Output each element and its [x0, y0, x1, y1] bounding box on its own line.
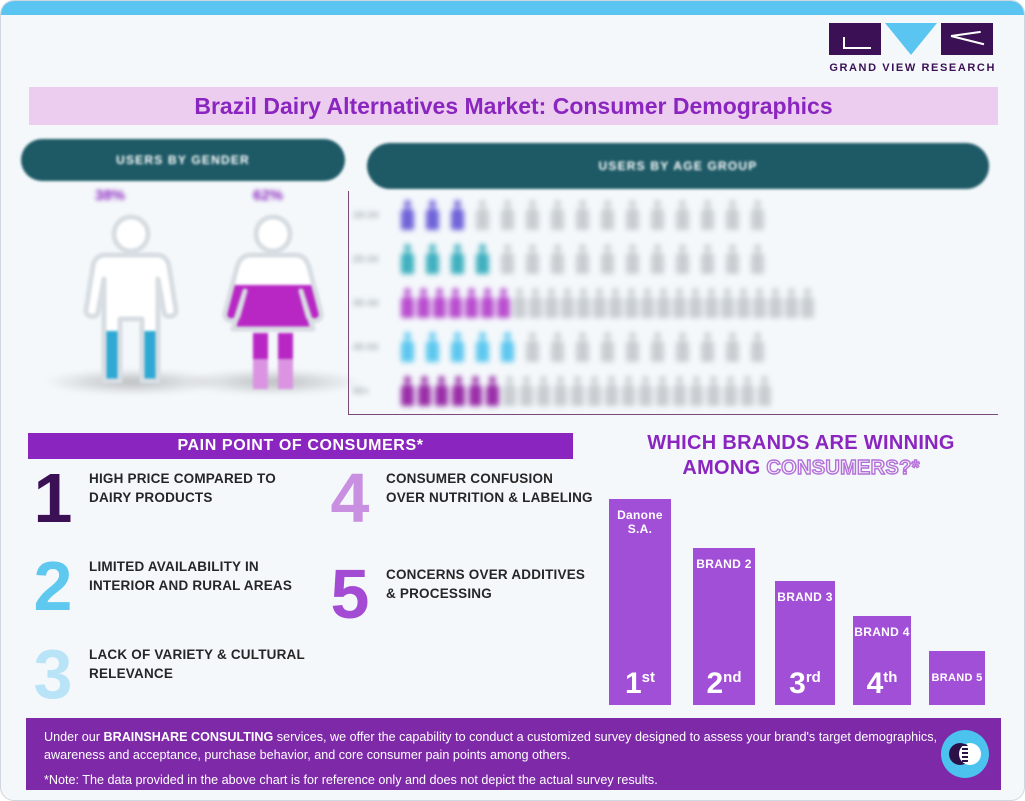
- person-icon: [676, 200, 689, 230]
- person-icon: [401, 332, 414, 362]
- person-icon: [571, 376, 584, 406]
- panel-horizontal-divider: [348, 414, 998, 415]
- gender-panel: 38% 62%: [23, 187, 345, 415]
- person-icon: [465, 288, 478, 318]
- person-icon: [435, 376, 448, 406]
- person-icon: [588, 376, 601, 406]
- age-row-icons: [401, 288, 814, 318]
- person-icon: [651, 200, 664, 230]
- person-icon: [551, 332, 564, 362]
- infographic-page: GRAND VIEW RESEARCH Brazil Dairy Alterna…: [0, 0, 1025, 801]
- person-icon: [476, 200, 489, 230]
- footer-note: *Note: The data provided in the above ch…: [44, 772, 983, 790]
- person-icon: [721, 288, 734, 318]
- chart-bar-rank: 3rd: [789, 669, 821, 705]
- person-icon: [469, 376, 482, 406]
- section-pill-users-by-age-group: USERS BY AGE GROUP: [367, 143, 989, 189]
- person-icon: [601, 332, 614, 362]
- person-icon: [639, 376, 652, 406]
- age-row: 55+: [353, 369, 993, 413]
- person-icon: [501, 200, 514, 230]
- age-row-label: 45-54: [353, 342, 401, 352]
- footer-brainshare: BRAINSHARE CONSULTING: [104, 730, 274, 744]
- person-icon: [486, 376, 499, 406]
- chart-bar: BRAND 33rd: [775, 581, 835, 705]
- pain-points-heading: PAIN POINT OF CONSUMERS*: [28, 433, 573, 459]
- age-row-icons: [401, 332, 764, 362]
- pain-point-label: CONCERNS OVER ADDITIVES & PROCESSING: [386, 563, 593, 625]
- pain-point-item: 1HIGH PRICE COMPARED TO DAIRY PRODUCTS: [31, 467, 321, 529]
- person-icon: [701, 200, 714, 230]
- person-icon: [513, 288, 526, 318]
- male-percentage: 38%: [95, 187, 125, 204]
- female-percentage: 62%: [253, 187, 283, 204]
- person-icon: [426, 200, 439, 230]
- logo-v-mark-icon: [885, 23, 937, 55]
- person-icon: [401, 288, 414, 318]
- person-icon: [753, 288, 766, 318]
- person-icon: [526, 332, 539, 362]
- chart-bar: BRAND 44th: [853, 616, 911, 705]
- pain-point-item: 4CONSUMER CONFUSION OVER NUTRITION & LAB…: [328, 467, 593, 529]
- person-icon: [576, 200, 589, 230]
- page-title: Brazil Dairy Alternatives Market: Consum…: [194, 93, 832, 120]
- person-icon: [689, 288, 702, 318]
- person-icon: [626, 244, 639, 274]
- pain-point-label: LIMITED AVAILABILITY IN INTERIOR AND RUR…: [89, 555, 321, 617]
- logo-wordmark: GRAND VIEW RESEARCH: [829, 62, 996, 74]
- chart-bar-label: Danone S.A.: [609, 499, 671, 537]
- footer-callout: Under our BRAINSHARE CONSULTING services…: [26, 718, 1001, 790]
- chart-bar: BRAND 22nd: [693, 548, 755, 705]
- person-icon: [622, 376, 635, 406]
- age-row-icons: [401, 200, 764, 230]
- title-band: Brazil Dairy Alternatives Market: Consum…: [29, 87, 998, 125]
- person-icon: [476, 244, 489, 274]
- footer-main-text: Under our BRAINSHARE CONSULTING services…: [44, 729, 983, 765]
- person-icon: [451, 200, 464, 230]
- age-row: 25-34: [353, 237, 993, 281]
- person-icon: [641, 288, 654, 318]
- person-icon: [418, 376, 431, 406]
- person-icon: [554, 376, 567, 406]
- person-icon: [551, 200, 564, 230]
- footer-pre: Under our: [44, 730, 104, 744]
- person-icon: [785, 288, 798, 318]
- person-icon: [758, 376, 771, 406]
- female-figure-icon: [213, 209, 333, 389]
- person-icon: [690, 376, 703, 406]
- person-icon: [497, 288, 510, 318]
- person-icon: [503, 376, 516, 406]
- brands-heading-among: AMONG: [682, 457, 766, 479]
- logo-g-mark-icon: [829, 23, 881, 55]
- person-icon: [476, 332, 489, 362]
- panel-vertical-divider: [348, 191, 349, 415]
- person-icon: [676, 244, 689, 274]
- age-row-label: 55+: [353, 386, 401, 396]
- person-icon: [726, 244, 739, 274]
- person-icon: [741, 376, 754, 406]
- age-row-label: 18-24: [353, 210, 401, 220]
- person-icon: [605, 376, 618, 406]
- pain-point-number-icon: 2: [31, 555, 75, 617]
- pain-point-item: 5CONCERNS OVER ADDITIVES & PROCESSING: [328, 563, 593, 625]
- person-icon: [626, 332, 639, 362]
- person-icon: [676, 332, 689, 362]
- person-icon: [576, 332, 589, 362]
- person-icon: [701, 332, 714, 362]
- person-icon: [577, 288, 590, 318]
- person-icon: [593, 288, 606, 318]
- person-icon: [751, 200, 764, 230]
- top-accent-bar: [1, 1, 1024, 15]
- person-icon: [576, 244, 589, 274]
- brands-heading-consumers: CONSUMERS?*: [766, 457, 919, 479]
- person-icon: [449, 288, 462, 318]
- person-icon: [751, 244, 764, 274]
- male-figure-icon: [71, 209, 191, 389]
- person-icon: [651, 244, 664, 274]
- pain-point-label: LACK OF VARIETY & CULTURAL RELEVANCE: [89, 643, 321, 705]
- pain-point-number-icon: 1: [31, 467, 75, 529]
- person-icon: [724, 376, 737, 406]
- chart-bar-rank: 1st: [625, 669, 655, 705]
- chart-bar-rank: 2nd: [706, 669, 741, 705]
- brands-bar-chart: Danone S.A.1stBRAND 22ndBRAND 33rdBRAND …: [609, 499, 994, 705]
- person-icon: [707, 376, 720, 406]
- pain-point-label: CONSUMER CONFUSION OVER NUTRITION & LABE…: [386, 467, 593, 529]
- pain-point-label: HIGH PRICE COMPARED TO DAIRY PRODUCTS: [89, 467, 321, 529]
- person-icon: [705, 288, 718, 318]
- person-icon: [626, 200, 639, 230]
- person-icon: [433, 288, 446, 318]
- person-icon: [657, 288, 670, 318]
- person-icon: [451, 332, 464, 362]
- person-icon: [537, 376, 550, 406]
- person-icon: [401, 376, 414, 406]
- pain-point-item: 2LIMITED AVAILABILITY IN INTERIOR AND RU…: [31, 555, 321, 617]
- person-icon: [673, 376, 686, 406]
- pain-points-column-right: 4CONSUMER CONFUSION OVER NUTRITION & LAB…: [328, 467, 593, 651]
- person-icon: [625, 288, 638, 318]
- badge-spine: [962, 744, 968, 764]
- person-icon: [751, 332, 764, 362]
- brands-heading-line-2: AMONG CONSUMERS?*: [601, 456, 1001, 481]
- chart-bar-label: BRAND 2: [696, 548, 751, 572]
- person-icon: [701, 244, 714, 274]
- section-pill-users-by-gender: USERS BY GENDER: [21, 139, 345, 181]
- age-row-label: 25-34: [353, 254, 401, 264]
- person-icon: [726, 200, 739, 230]
- age-row: 35-44: [353, 281, 993, 325]
- chart-bar-label: BRAND 4: [854, 616, 909, 640]
- person-icon: [501, 244, 514, 274]
- grand-view-research-logo: GRAND VIEW RESEARCH: [829, 23, 996, 74]
- chart-bar-label: BRAND 5: [932, 672, 983, 685]
- pain-point-number-icon: 5: [328, 563, 372, 625]
- person-icon: [520, 376, 533, 406]
- pain-point-number-icon: 3: [31, 643, 75, 705]
- chart-bar-rank: 4th: [867, 669, 898, 705]
- person-icon: [651, 332, 664, 362]
- logo-r-mark-icon: [941, 23, 993, 55]
- person-icon: [426, 244, 439, 274]
- age-row: 18-24: [353, 193, 993, 237]
- pain-point-item: 3LACK OF VARIETY & CULTURAL RELEVANCE: [31, 643, 321, 705]
- person-icon: [401, 244, 414, 274]
- person-icon: [526, 244, 539, 274]
- person-icon: [481, 288, 494, 318]
- person-icon: [417, 288, 430, 318]
- person-icon: [426, 332, 439, 362]
- person-icon: [529, 288, 542, 318]
- person-icon: [801, 288, 814, 318]
- brainshare-badge-icon: [941, 730, 989, 778]
- age-group-pictogram-chart: 18-2425-3435-4445-5455+: [353, 193, 993, 413]
- person-icon: [501, 332, 514, 362]
- age-row: 45-54: [353, 325, 993, 369]
- person-icon: [401, 200, 414, 230]
- chart-bar: BRAND 5: [929, 651, 985, 705]
- chart-bar-label: BRAND 3: [777, 581, 832, 605]
- brands-heading-line-1: WHICH BRANDS ARE WINNING: [601, 431, 1001, 456]
- person-icon: [545, 288, 558, 318]
- person-icon: [601, 244, 614, 274]
- pain-points-column-left: 1HIGH PRICE COMPARED TO DAIRY PRODUCTS2L…: [31, 467, 321, 731]
- person-icon: [526, 200, 539, 230]
- age-row-icons: [401, 244, 764, 274]
- person-icon: [737, 288, 750, 318]
- age-row-icons: [401, 376, 771, 406]
- person-icon: [673, 288, 686, 318]
- person-icon: [601, 200, 614, 230]
- person-icon: [452, 376, 465, 406]
- person-icon: [451, 244, 464, 274]
- chart-bar: Danone S.A.1st: [609, 499, 671, 705]
- person-icon: [609, 288, 622, 318]
- logo-marks: [829, 23, 996, 55]
- person-icon: [769, 288, 782, 318]
- age-row-label: 35-44: [353, 298, 401, 308]
- person-icon: [551, 244, 564, 274]
- person-icon: [656, 376, 669, 406]
- pain-point-number-icon: 4: [328, 467, 372, 529]
- person-icon: [561, 288, 574, 318]
- person-icon: [726, 332, 739, 362]
- brands-heading: WHICH BRANDS ARE WINNING AMONG CONSUMERS…: [601, 431, 1001, 481]
